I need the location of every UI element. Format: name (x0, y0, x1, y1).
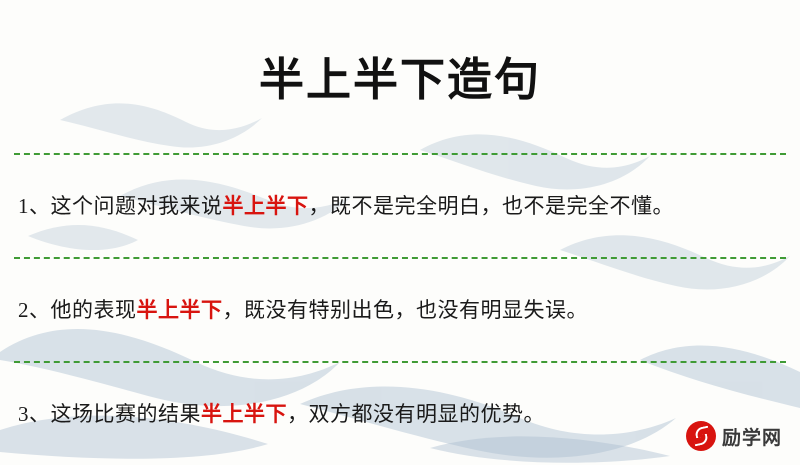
sentence-item-3: 3、这场比赛的结果半上半下，双方都没有明显的优势。 (14, 384, 786, 444)
divider-top (14, 153, 786, 155)
sentence-text-1a: 这个问题对我来说 (51, 194, 223, 218)
sentence-text-1b: ，既不是完全明白，也不是完全不懂。 (309, 194, 675, 218)
document-page: 半上半下造句 1、这个问题对我来说半上半下，既不是完全明白，也不是完全不懂。 2… (0, 0, 800, 465)
sentence-highlight-1: 半上半下 (223, 194, 309, 218)
divider-1 (14, 257, 786, 259)
swirl-logo-icon (686, 421, 716, 451)
sentence-highlight-3: 半上半下 (201, 402, 287, 426)
sentence-text-3a: 这场比赛的结果 (51, 402, 202, 426)
sentence-text-2b: ，既没有特别出色，也没有明显失误。 (223, 298, 589, 322)
sentence-index-3: 3、 (18, 402, 51, 426)
sentence-index-2: 2、 (18, 298, 51, 322)
divider-2 (14, 361, 786, 363)
page-title: 半上半下造句 (14, 30, 786, 122)
sentence-text-2a: 他的表现 (51, 298, 137, 322)
sentence-highlight-2: 半上半下 (137, 298, 223, 322)
watermark-logo: 励学网 (686, 421, 782, 451)
sentence-item-2: 2、他的表现半上半下，既没有特别出色，也没有明显失误。 (14, 280, 786, 340)
sentence-index-1: 1、 (18, 194, 51, 218)
watermark-text: 励学网 (722, 423, 782, 450)
document-content: 半上半下造句 1、这个问题对我来说半上半下，既不是完全明白，也不是完全不懂。 2… (0, 30, 800, 465)
sentence-item-1: 1、这个问题对我来说半上半下，既不是完全明白，也不是完全不懂。 (14, 176, 786, 236)
sentence-text-3b: ，双方都没有明显的优势。 (287, 402, 545, 426)
